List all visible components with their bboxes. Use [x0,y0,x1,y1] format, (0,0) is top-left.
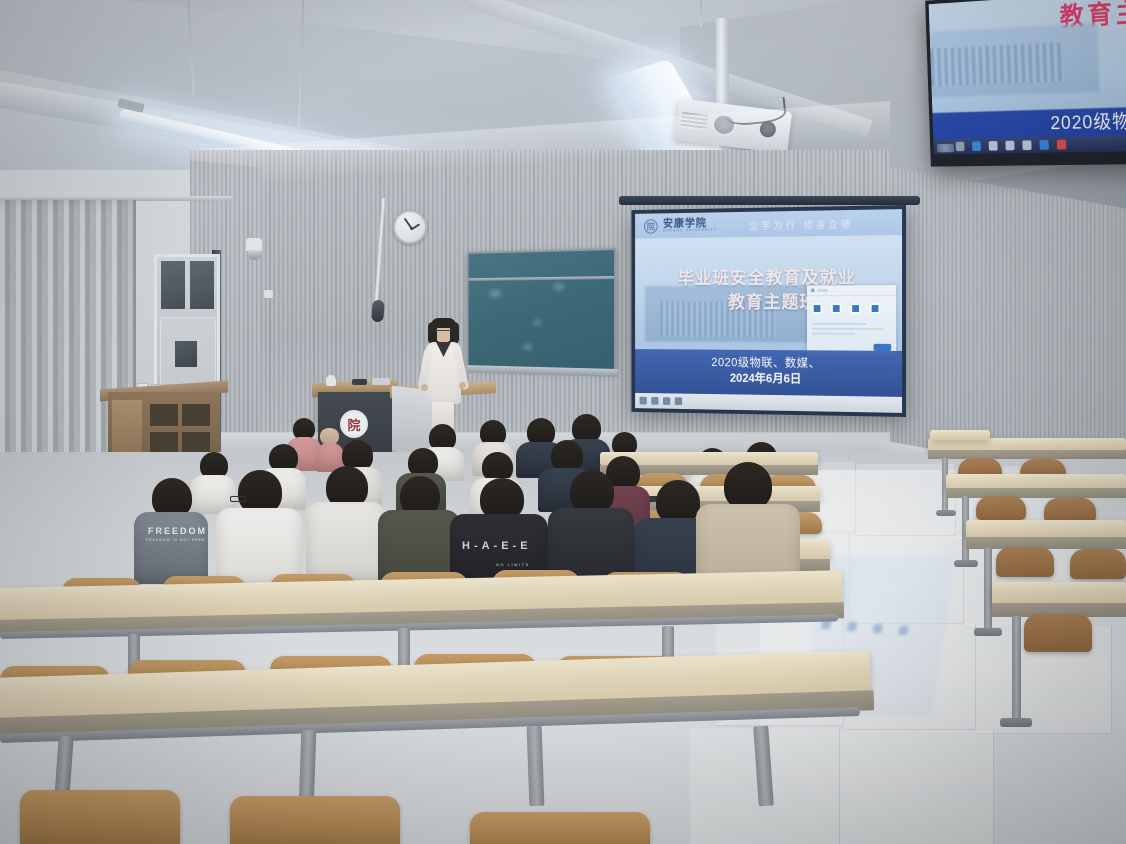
projection-screen: 院 安康学院 ANKANG UNIVERSITY 立学为行 修身立德 毕业班安全… [632,205,906,417]
camera-icon[interactable] [1005,141,1014,151]
desk-foot [936,510,956,516]
inset-feature-icon [831,303,842,314]
clock-center [410,227,413,230]
inset-logo-icon [811,288,815,292]
cabinet-shelf-opening [182,404,210,426]
start-icon[interactable] [956,142,965,152]
desk-foot [974,628,1002,636]
door-vision-panel [175,341,197,367]
eyeglasses [230,496,246,502]
reflected-icon [847,622,857,631]
seat [996,547,1054,577]
seat [230,796,400,844]
presentation-slide: 院 安康学院 ANKANG UNIVERSITY 立学为行 修身立德 毕业班安全… [635,209,902,413]
seat [20,790,180,844]
desk-leg [984,548,992,630]
chalk-smudge [523,344,533,351]
student-torso: FREEDOM FREEDOM IS NOT FREE [134,512,208,584]
blackboard [467,248,616,372]
desk-row-empty [946,474,1126,489]
chalk-smudge [553,283,564,291]
tv-brand-logo [937,144,954,153]
start-icon[interactable] [640,397,647,405]
logo-glyph: 院 [647,220,655,233]
desk-front-panel [946,488,1126,498]
chalk-smudge [533,320,541,326]
projector-mount-pole [716,18,729,110]
classroom-photo-scene: 院 安康学院 ANKANG UNIVERSITY 立学为行 修身立德 毕业班安全… [0,0,1126,844]
security-camera [264,290,273,298]
door-window-pane [161,261,185,309]
minus-icon[interactable] [1039,140,1048,150]
shirt-subtext: NO LIMITS [496,562,530,567]
chalk-smudge [489,289,501,298]
seat [470,812,650,844]
explorer-icon[interactable] [989,141,998,151]
shirt-print-text: H-A-E-E [462,540,532,552]
university-logo-icon: 院 [644,219,658,234]
desk-row-empty [992,582,1126,604]
inset-line [812,328,883,330]
seat [1044,498,1096,522]
tv-building-windows [930,42,1064,86]
cabinet-shelf-opening [182,432,210,454]
inset-text-lines [812,323,891,338]
inset-app-title: 班会系统 [818,288,828,292]
cabinet-shelf-opening [150,404,178,426]
blackboard-rail [468,276,614,281]
seal-glyph: 院 [347,415,360,434]
reflected-icon [872,624,882,633]
desk-row-empty [966,520,1126,538]
tv-taskbar[interactable] [933,135,1126,154]
inset-line [812,323,867,325]
university-seal-icon: 院 [340,410,368,438]
podium-device [352,379,367,385]
teacher-hand-right [459,382,466,389]
slide-header: 院 安康学院 ANKANG UNIVERSITY 立学为行 修身立德 [635,209,902,239]
desk-top [966,520,1126,538]
inset-line [812,333,855,335]
desk-top [946,474,1126,489]
shirt-subtext: FREEDOM IS NOT FREE [146,538,205,542]
desk-top [930,430,990,440]
inset-icon-row [812,303,881,314]
photo-icon[interactable] [1022,140,1031,150]
slide-motto: 立学为行 修身立德 [749,215,853,231]
hanging-microphone [371,300,385,323]
teacher-glasses [435,330,452,334]
desk-foot [1000,718,1032,727]
student-front-white-2 [306,466,386,586]
student-head [724,462,772,510]
folder-icon[interactable] [651,397,658,405]
wall-mounted-tv: 教育主 2020级物联 2024年 [925,0,1126,167]
inset-feature-icon [812,303,823,314]
wall-clock [393,210,427,244]
inset-feature-icon [850,303,861,314]
security-camera-dome [248,250,261,260]
student-front-freedom: FREEDOM FREEDOM IS NOT FREE [134,478,208,584]
student-front-white [216,470,302,590]
tv-screen: 教育主 2020级物联 2024年 [929,0,1126,154]
desk-foot [954,560,978,567]
browser-icon[interactable] [663,397,670,405]
seat [976,496,1026,520]
reflected-icon [898,626,908,635]
cabinet-shelf-opening [150,432,178,454]
desk-row-empty [930,430,990,440]
inset-titlebar: 班会系统 [807,285,896,296]
podium-papers [372,378,390,385]
desk-leg [527,726,545,806]
presenting-teacher [420,318,466,428]
university-name-block: 安康学院 ANKANG UNIVERSITY [663,218,717,233]
inset-feature-icon [870,303,881,314]
seat [1024,614,1092,652]
desk-front-panel [928,450,1126,459]
door-window-pane [190,261,214,309]
media-icon[interactable] [675,397,682,405]
slide-inset-screenshot: 班会系统 [807,285,896,357]
slide-footer: 2020级物联、数媒、 2024年6月6日 [635,349,902,397]
podium-cup [326,375,336,386]
desk-leg [1012,616,1021,720]
slide-footer-line2: 2024年6月6日 [635,369,902,388]
desk-leg [398,628,410,670]
ppt-icon[interactable] [1057,140,1067,150]
seat [1070,549,1126,579]
search-icon[interactable] [972,141,981,151]
teacher-hand-left [421,384,428,391]
projector-wire [700,0,702,26]
desk-top [992,582,1126,604]
shirt-print-text: FREEDOM [148,526,207,536]
university-name-en: ANKANG UNIVERSITY [663,229,717,233]
slide-taskbar[interactable] [635,393,902,413]
projector-screen-roller [619,196,920,205]
